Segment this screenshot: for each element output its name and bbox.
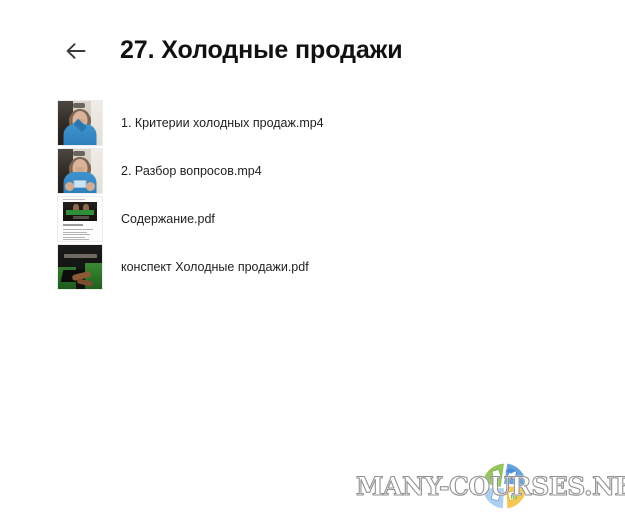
file-row-pdf-1[interactable]: Содержание.pdf: [57, 195, 625, 243]
video-thumbnail-1[interactable]: [57, 100, 103, 146]
page-title: 27. Холодные продажи: [120, 37, 403, 65]
circular-courses-logo-icon: [476, 458, 532, 514]
back-button[interactable]: [61, 36, 91, 66]
arrow-left-icon: [65, 42, 87, 60]
file-name-label: Содержание.pdf: [121, 212, 215, 227]
file-name-label: 2. Разбор вопросов.mp4: [121, 164, 262, 179]
file-row-video-1[interactable]: 1. Критерии холодных продаж.mp4: [57, 99, 625, 147]
pdf-thumbnail-2[interactable]: [57, 244, 103, 290]
pdf-thumbnail-1[interactable]: [57, 196, 103, 242]
video-thumbnail-2[interactable]: [57, 148, 103, 194]
file-row-pdf-2[interactable]: конспект Холодные продажи.pdf: [57, 243, 625, 291]
file-list: 1. Критерии холодных продаж.mp4 2. Разбо…: [0, 99, 625, 291]
file-row-video-2[interactable]: 2. Разбор вопросов.mp4: [57, 147, 625, 195]
watermark-text: MANY-COURSES.NET: [356, 472, 625, 501]
watermark: MANY-COURSES.NET: [396, 458, 611, 514]
file-name-label: 1. Критерии холодных продаж.mp4: [121, 116, 324, 131]
page-header: 27. Холодные продажи: [0, 0, 625, 66]
file-name-label: конспект Холодные продажи.pdf: [121, 260, 309, 275]
